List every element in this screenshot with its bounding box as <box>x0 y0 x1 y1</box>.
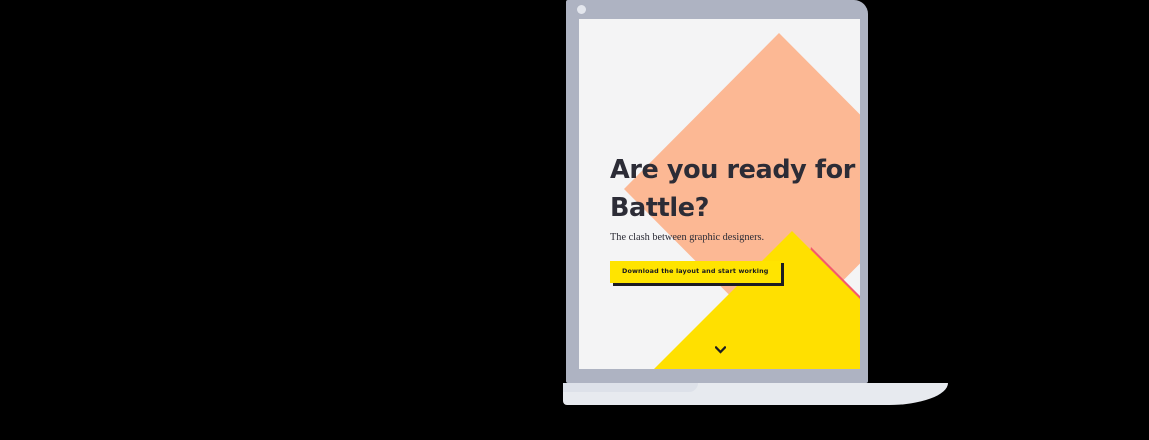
cta-wrapper: Download the layout and start working <box>610 260 781 283</box>
laptop-mockup: Are you ready for the Battle? The clash … <box>560 0 960 410</box>
laptop-base-notch <box>563 383 698 392</box>
scroll-down-button[interactable] <box>711 341 729 359</box>
chevron-down-icon <box>715 346 726 354</box>
page-title-line-1: Are you ready for the <box>610 151 860 189</box>
scene-stage: Are you ready for the Battle? The clash … <box>0 0 1149 440</box>
laptop-screen: Are you ready for the Battle? The clash … <box>579 19 860 369</box>
laptop-bezel: Are you ready for the Battle? The clash … <box>566 0 868 383</box>
page-title-line-2: Battle? <box>610 189 860 227</box>
landing-page-canvas: Are you ready for the Battle? The clash … <box>579 19 860 369</box>
camera-dot-icon <box>577 5 586 14</box>
download-layout-button[interactable]: Download the layout and start working <box>610 261 781 283</box>
hero-section: Are you ready for the Battle? The clash … <box>610 151 860 283</box>
hero-subtitle: The clash between graphic designers. <box>610 227 860 245</box>
